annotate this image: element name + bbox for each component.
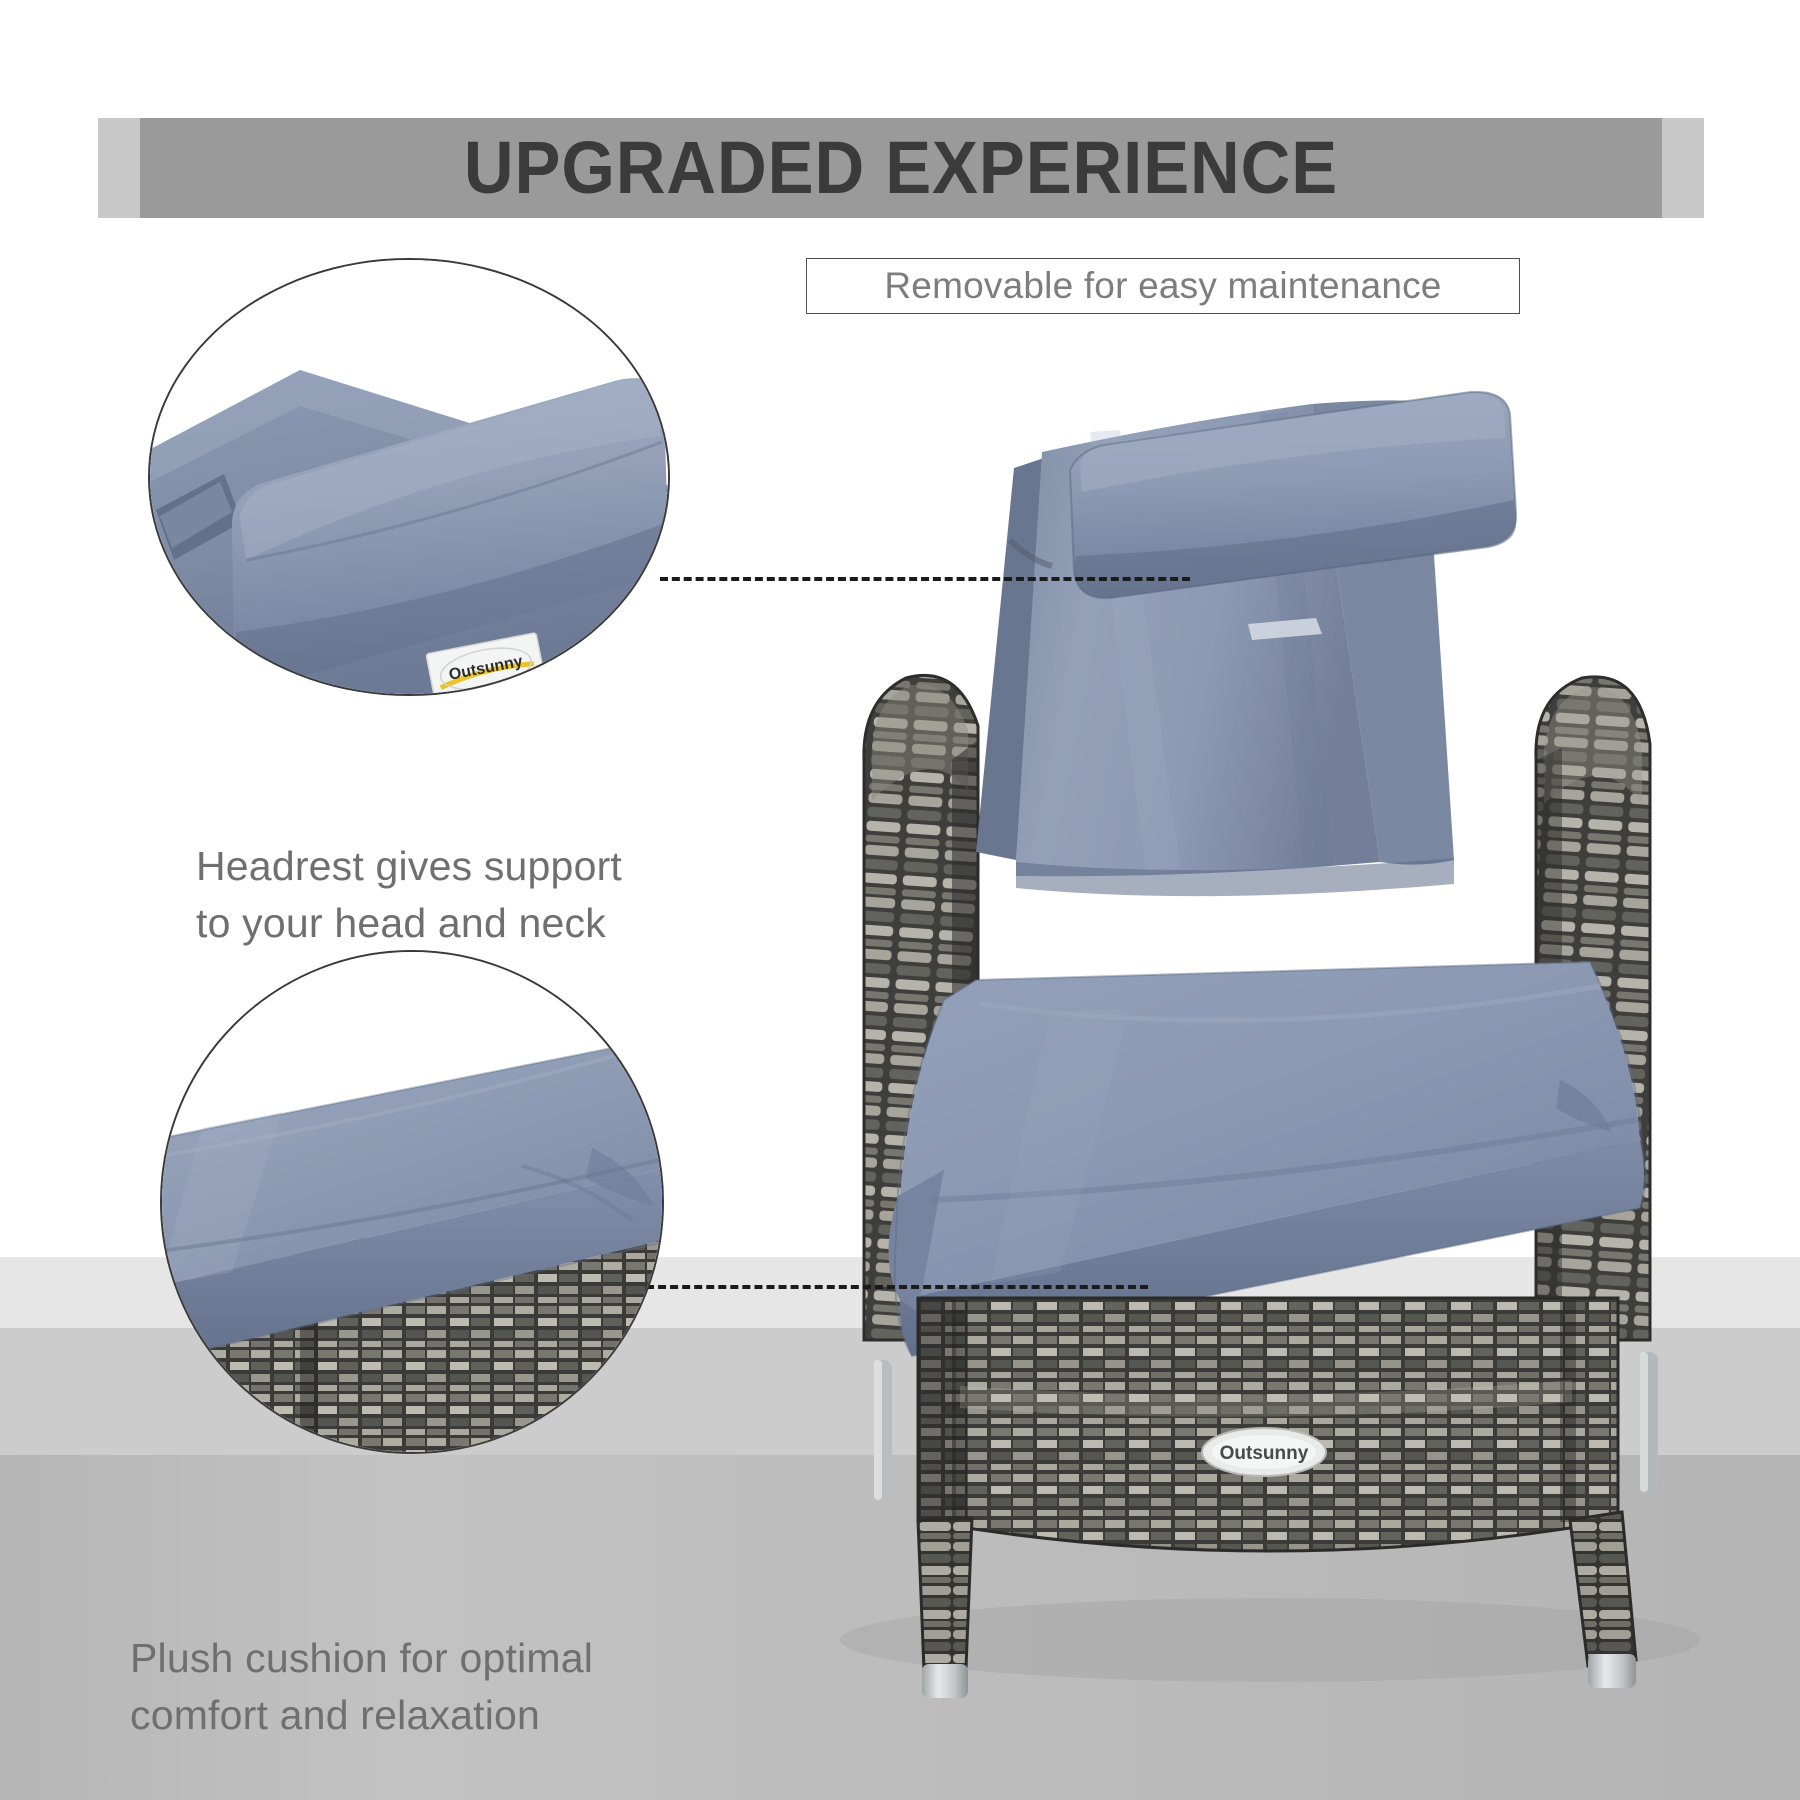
header-banner-cap-right — [1662, 118, 1704, 218]
headrest-detail-image: Outsunny — [150, 260, 668, 694]
caption-headrest-line2: to your head and neck — [196, 895, 756, 952]
detail-inset-headrest: Outsunny — [148, 258, 670, 696]
brand-badge-base: Outsunny — [1202, 1428, 1326, 1476]
caption-cushion-line1: Plush cushion for optimal — [130, 1630, 730, 1687]
caption-cushion: Plush cushion for optimal comfort and re… — [130, 1630, 730, 1743]
connector-line-headrest — [660, 577, 1190, 581]
infographic-canvas: Outsunny UPGRADED EXPERIENCE Removable f… — [0, 0, 1800, 1800]
svg-text:Outsunny: Outsunny — [1220, 1443, 1309, 1464]
detail-inset-cushion — [160, 950, 664, 1454]
cushion-detail-image — [162, 952, 662, 1452]
header-banner-cap-left — [98, 118, 140, 218]
connector-line-cushion — [646, 1285, 1148, 1289]
chair-base-rattan — [918, 1298, 1618, 1551]
caption-cushion-line2: comfort and relaxation — [130, 1687, 730, 1744]
page-title: UPGRADED EXPERIENCE — [154, 118, 1648, 218]
caption-headrest-line1: Headrest gives support — [196, 838, 756, 895]
removable-callout-box: Removable for easy maintenance — [806, 258, 1520, 314]
caption-headrest: Headrest gives support to your head and … — [196, 838, 756, 951]
removable-callout-label: Removable for easy maintenance — [884, 265, 1441, 307]
